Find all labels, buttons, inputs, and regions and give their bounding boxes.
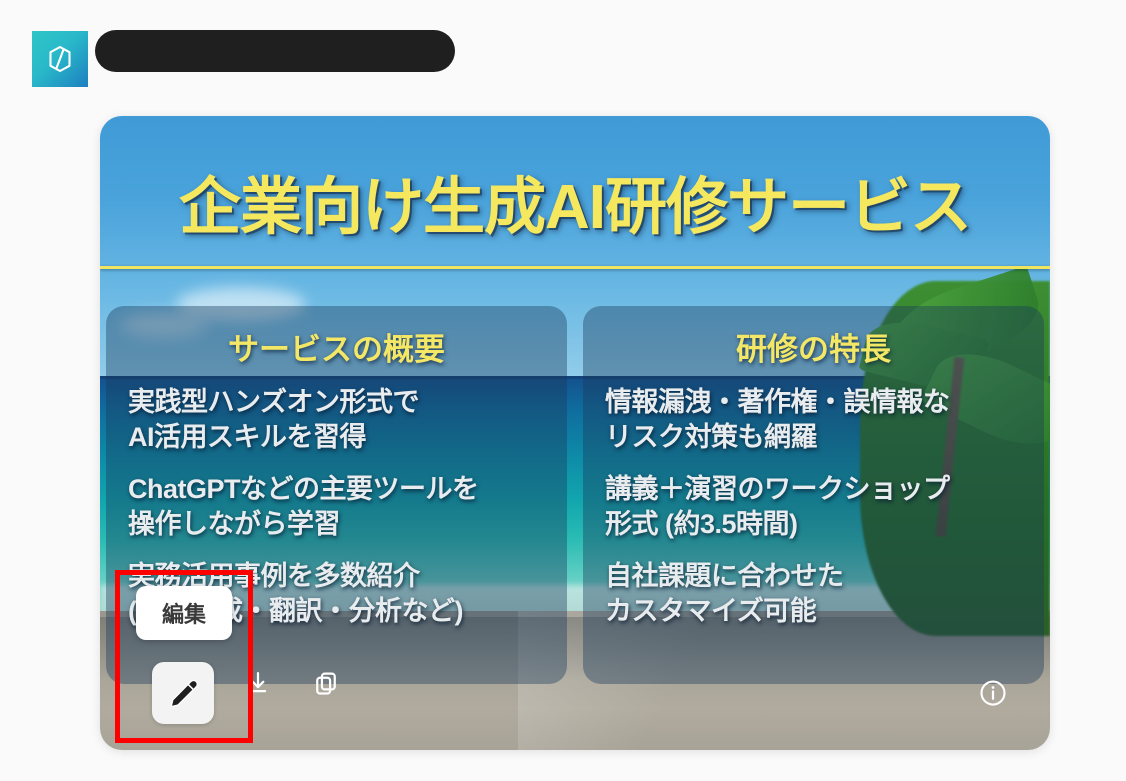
panel-heading: サービスの概要 (128, 324, 545, 369)
pencil-icon (166, 676, 200, 710)
panel-item: 実践型ハンズオン形式で AI活用スキルを習得 (128, 385, 545, 454)
title-divider (100, 266, 1050, 269)
download-icon[interactable] (241, 666, 275, 700)
panel-item: ChatGPTなどの主要ツールを 操作しながら学習 (128, 472, 545, 541)
panel-item: 講義＋演習のワークショップ 形式 (約3.5時間) (605, 472, 1022, 541)
generated-image-card[interactable]: 企業向け生成AI研修サービス サービスの概要 実践型ハンズオン形式で AI活用ス… (100, 116, 1050, 750)
edit-tooltip: 編集 (136, 586, 232, 640)
panel-item: 情報漏洩・著作権・誤情報な リスク対策も網羅 (605, 385, 1022, 454)
panel-training-features: 研修の特長 情報漏洩・著作権・誤情報な リスク対策も網羅 講義＋演習のワークショ… (583, 306, 1044, 684)
panel-row: サービスの概要 実践型ハンズオン形式で AI活用スキルを習得 ChatGPTなど… (100, 306, 1050, 684)
code-hexagon-logo-icon (32, 31, 88, 87)
slide-title: 企業向け生成AI研修サービス (100, 156, 1050, 246)
copy-icon[interactable] (309, 666, 343, 700)
info-icon[interactable] (976, 676, 1010, 710)
panel-heading: 研修の特長 (605, 324, 1022, 369)
panel-item: 自社課題に合わせた カスタマイズ可能 (605, 559, 1022, 628)
edit-button[interactable] (152, 662, 214, 724)
top-bar (0, 0, 1126, 100)
redacted-title-bar (95, 30, 455, 72)
